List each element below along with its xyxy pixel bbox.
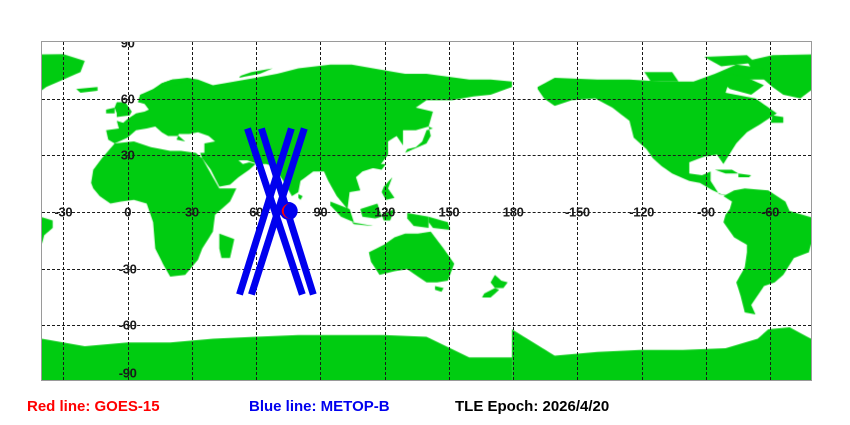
longitude-tick-label: 0 — [124, 206, 131, 219]
latitude-tick-label: 30 — [121, 149, 135, 162]
latitude-tick-label: 90 — [121, 41, 135, 50]
longitude-tick-label: -120 — [629, 206, 654, 219]
longitude-tick-label: 30 — [185, 206, 199, 219]
satellite-ground-track-app: -300306090120150180-150-120-90-60 906030… — [0, 0, 850, 425]
legend-blue-line-metopb: Blue line: METOP-B — [249, 399, 390, 414]
longitude-tick-label: -150 — [565, 206, 590, 219]
map-legend: Red line: GOES-15 Blue line: METOP-B TLE… — [0, 393, 850, 425]
longitude-tick-label: 180 — [503, 206, 524, 219]
gridline-latitude — [42, 325, 811, 326]
latitude-tick-label: -60 — [119, 319, 137, 332]
longitude-tick-label: 90 — [313, 206, 327, 219]
legend-red-line-goes15: Red line: GOES-15 — [27, 399, 160, 414]
longitude-tick-label: 60 — [249, 206, 263, 219]
longitude-tick-label: 120 — [374, 206, 395, 219]
latitude-tick-label: -30 — [119, 262, 137, 275]
world-map-landmass-canvas — [42, 42, 811, 380]
latitude-tick-label: 60 — [121, 92, 135, 105]
longitude-tick-label: -90 — [697, 206, 715, 219]
longitude-tick-label: 150 — [439, 206, 460, 219]
latitude-tick-label: -90 — [119, 367, 137, 380]
gridline-latitude — [42, 269, 811, 270]
legend-tle-epoch: TLE Epoch: 2026/4/20 — [455, 399, 609, 414]
longitude-tick-label: -30 — [54, 206, 72, 219]
gridline-latitude — [42, 212, 811, 213]
gridline-latitude — [42, 155, 811, 156]
world-map-plot[interactable]: -300306090120150180-150-120-90-60 906030… — [41, 41, 812, 381]
gridline-latitude — [42, 99, 811, 100]
longitude-tick-label: -60 — [761, 206, 779, 219]
